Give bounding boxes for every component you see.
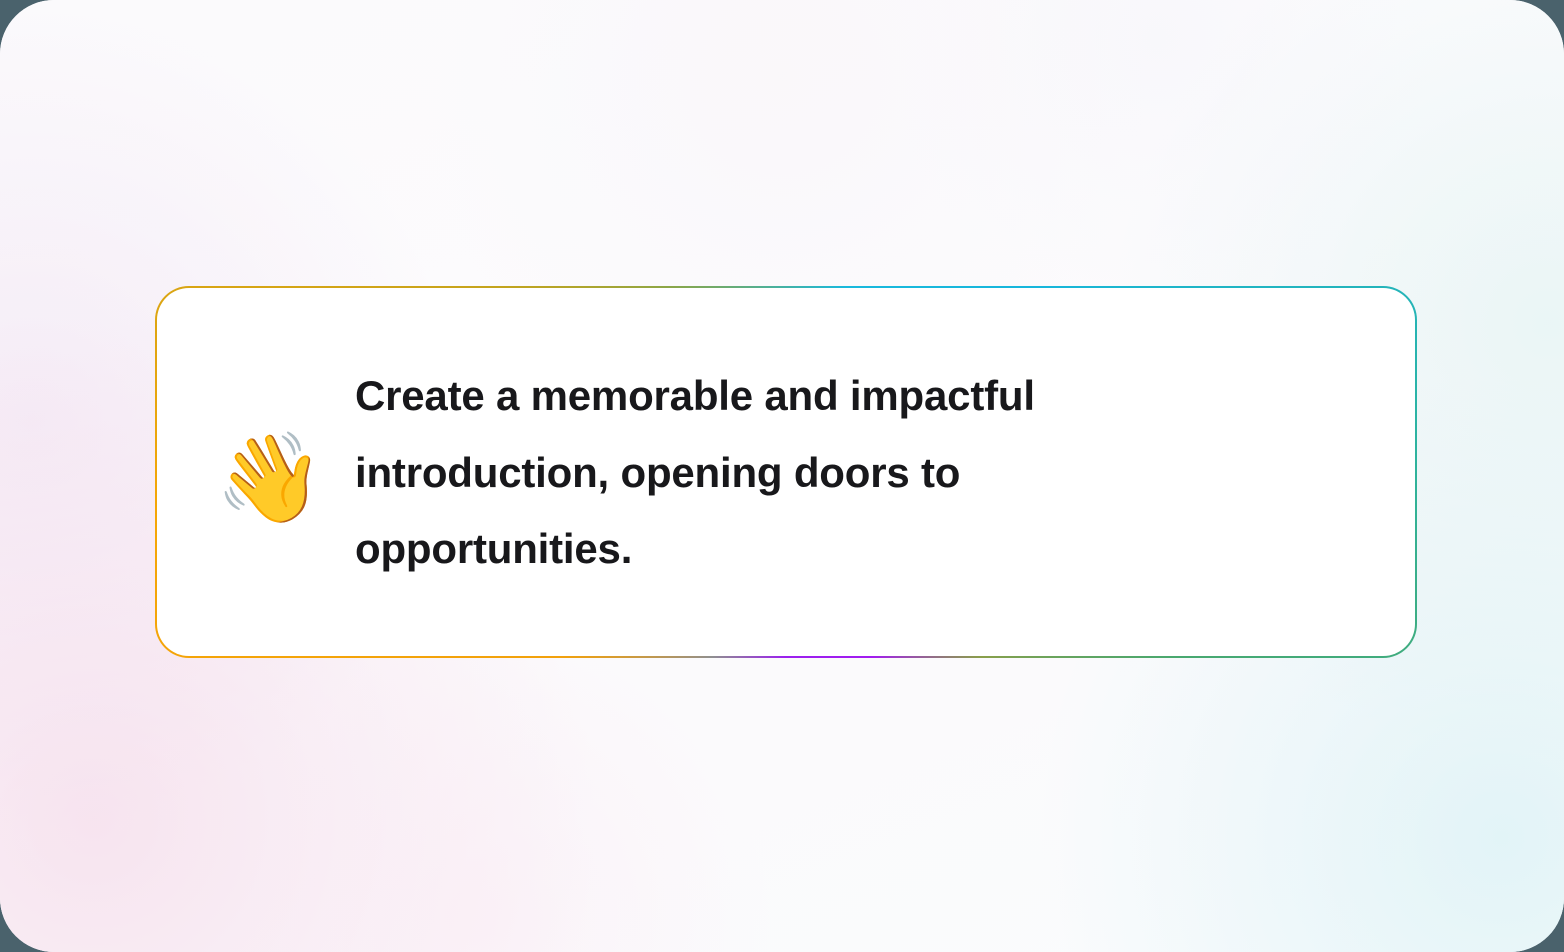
prompt-card-inner: 👋 Create a memorable and impactful intro…: [157, 288, 1415, 656]
prompt-card[interactable]: 👋 Create a memorable and impactful intro…: [155, 286, 1417, 658]
page-canvas: 👋 Create a memorable and impactful intro…: [0, 0, 1564, 952]
prompt-text: Create a memorable and impactful introdu…: [355, 358, 1175, 587]
waving-hand-emoji: 👋: [215, 426, 319, 530]
